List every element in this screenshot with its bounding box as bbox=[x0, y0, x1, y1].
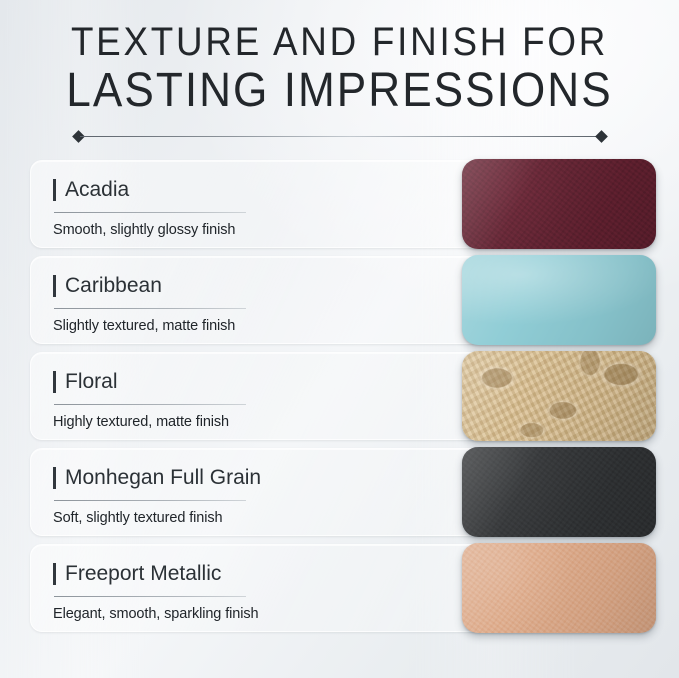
finish-name-underline bbox=[54, 212, 246, 213]
poster-header: TEXTURE AND FINISH FOR LASTING IMPRESSIO… bbox=[0, 0, 679, 144]
title-divider bbox=[72, 130, 608, 144]
finish-name-underline bbox=[54, 500, 246, 501]
divider-rule bbox=[80, 136, 600, 137]
finish-card-body: FloralHighly textured, matte finish bbox=[53, 367, 353, 430]
page-title-line-2: LASTING IMPRESSIONS bbox=[27, 66, 652, 116]
page-title-line-1: TEXTURE AND FINISH FOR bbox=[27, 22, 652, 64]
finish-description: Highly textured, matte finish bbox=[53, 414, 353, 430]
finish-name: Floral bbox=[65, 371, 118, 392]
accent-bar-icon bbox=[53, 371, 56, 393]
finish-name-row: Floral bbox=[53, 367, 353, 397]
accent-bar-icon bbox=[53, 467, 56, 489]
finish-name-underline bbox=[54, 404, 246, 405]
accent-bar-icon bbox=[53, 563, 56, 585]
finish-name: Acadia bbox=[65, 179, 129, 200]
finish-name-row: Acadia bbox=[53, 175, 353, 205]
list-item[interactable]: Freeport MetallicElegant, smooth, sparkl… bbox=[30, 544, 657, 632]
monhegan-charcoal-swatch[interactable] bbox=[462, 447, 656, 537]
finish-name-underline bbox=[54, 308, 246, 309]
finish-card-body: AcadiaSmooth, slightly glossy finish bbox=[53, 175, 353, 238]
finish-description: Elegant, smooth, sparkling finish bbox=[53, 606, 353, 622]
finish-name: Caribbean bbox=[65, 275, 162, 296]
swatch-sheen bbox=[462, 351, 656, 441]
infographic-poster: TEXTURE AND FINISH FOR LASTING IMPRESSIO… bbox=[0, 0, 679, 678]
finish-name-underline bbox=[54, 596, 246, 597]
swatch-sheen bbox=[462, 447, 656, 537]
accent-bar-icon bbox=[53, 275, 56, 297]
finish-card-body: Monhegan Full GrainSoft, slightly textur… bbox=[53, 463, 353, 526]
caribbean-light-blue-swatch[interactable] bbox=[462, 255, 656, 345]
swatch-sheen bbox=[462, 159, 656, 249]
finish-name: Freeport Metallic bbox=[65, 563, 221, 584]
material-swatch[interactable] bbox=[462, 351, 656, 441]
swatch-sheen bbox=[462, 255, 656, 345]
swatch-sheen bbox=[462, 543, 656, 633]
finish-name-row: Monhegan Full Grain bbox=[53, 463, 353, 493]
finish-description: Smooth, slightly glossy finish bbox=[53, 222, 353, 238]
finish-list: AcadiaSmooth, slightly glossy finishCari… bbox=[0, 160, 679, 632]
freeport-metallic-swatch[interactable] bbox=[462, 543, 656, 633]
finish-card-body: Freeport MetallicElegant, smooth, sparkl… bbox=[53, 559, 353, 622]
finish-description: Slightly textured, matte finish bbox=[53, 318, 353, 334]
diamond-right-icon bbox=[595, 130, 608, 143]
list-item[interactable]: AcadiaSmooth, slightly glossy finish bbox=[30, 160, 657, 248]
finish-description: Soft, slightly textured finish bbox=[53, 510, 353, 526]
acadia-burgundy-leather-swatch[interactable] bbox=[462, 159, 656, 249]
finish-name-row: Freeport Metallic bbox=[53, 559, 353, 589]
accent-bar-icon bbox=[53, 179, 56, 201]
finish-name: Monhegan Full Grain bbox=[65, 467, 261, 488]
list-item[interactable]: Monhegan Full GrainSoft, slightly textur… bbox=[30, 448, 657, 536]
finish-name-row: Caribbean bbox=[53, 271, 353, 301]
list-item[interactable]: CaribbeanSlightly textured, matte finish bbox=[30, 256, 657, 344]
finish-card-body: CaribbeanSlightly textured, matte finish bbox=[53, 271, 353, 334]
list-item[interactable]: FloralHighly textured, matte finish bbox=[30, 352, 657, 440]
